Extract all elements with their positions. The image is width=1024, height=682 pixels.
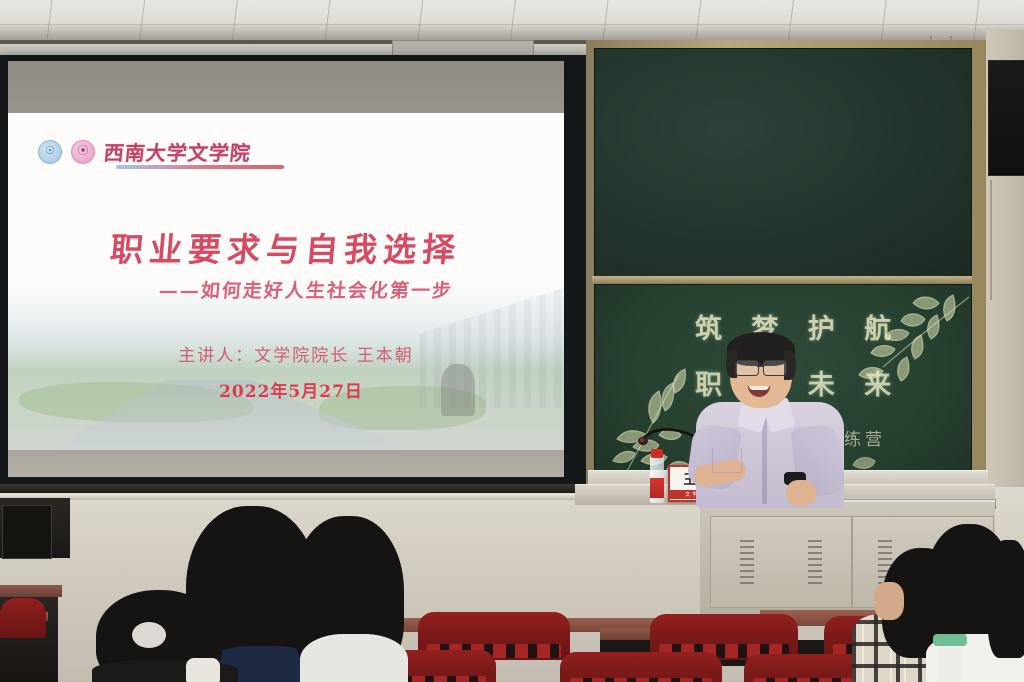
slide-title: 职业要求与自我选择 [8, 223, 564, 271]
hair-scrunchie [132, 622, 166, 648]
water-bottle-cap [651, 449, 663, 458]
student-face [874, 582, 904, 620]
presenter-shirt-placket [762, 418, 767, 504]
presenter [690, 330, 850, 505]
presenter-shirt-pocket [712, 448, 742, 473]
screen-lower-blank [8, 450, 564, 477]
screen-bottom-bar [0, 484, 592, 493]
chair-slats [570, 678, 713, 682]
cabinet-door-left[interactable] [710, 516, 852, 608]
student-center [292, 516, 412, 682]
wall-loudspeaker-icon [988, 60, 1024, 176]
slide-header: ☉ ⦿ 西南大学文学院 [38, 137, 251, 166]
projection-screen: ☉ ⦿ 西南大学文学院 职业要求与自我选择 ——如何走好人生社会化第一步 主讲人… [8, 61, 564, 477]
cabinet-vent-2 [808, 540, 822, 588]
wall-ledge [0, 494, 600, 500]
blackboard-ledge [592, 276, 972, 284]
lecture-hall-photo: ☉ ⦿ 西南大学文学院 职业要求与自我选择 ——如何走好人生社会化第一步 主讲人… [0, 0, 1024, 682]
slide-date: 2022年5月27日 [8, 377, 564, 402]
slide-school-name: 西南大学文学院 [102, 137, 252, 166]
student-hair [988, 540, 1024, 658]
glasses-bridge-icon [757, 365, 763, 367]
blackboard-upper-panel [594, 48, 972, 278]
cabinet-vent-1 [740, 540, 754, 588]
slide-header-rule [116, 165, 284, 169]
presenter-right-hand [786, 480, 816, 506]
drink-cup-lid [933, 634, 967, 646]
wall-crack [990, 180, 992, 300]
school-emblem-icon: ☉ [38, 140, 62, 164]
glasses-lens-left-icon [735, 360, 759, 376]
glasses-lens-right-icon [763, 360, 787, 376]
presenter-teeth [749, 386, 769, 390]
left-side-desk [0, 585, 62, 597]
drink-cup[interactable] [938, 640, 962, 682]
student-torso [300, 634, 408, 682]
projection-screen-frame: ☉ ⦿ 西南大学文学院 职业要求与自我选择 ——如何走好人生社会化第一步 主讲人… [0, 55, 586, 485]
chair-row-front-2[interactable] [560, 652, 722, 682]
slide-subtitle: ——如何走好人生社会化第一步 [8, 276, 564, 303]
presentation-slide: ☉ ⦿ 西南大学文学院 职业要求与自我选择 ——如何走好人生社会化第一步 主讲人… [8, 113, 564, 450]
control-monitor-icon [2, 505, 52, 559]
screen-blank-area [8, 61, 564, 119]
college-emblem-icon: ⦿ [71, 140, 95, 164]
chair-left-edge[interactable] [0, 598, 46, 638]
face-mask [186, 658, 220, 682]
water-bottle-label [650, 478, 664, 498]
student-edge-right [988, 540, 1024, 682]
slide-speaker-line: 主讲人：文学院院长 王本朝 [8, 341, 564, 366]
